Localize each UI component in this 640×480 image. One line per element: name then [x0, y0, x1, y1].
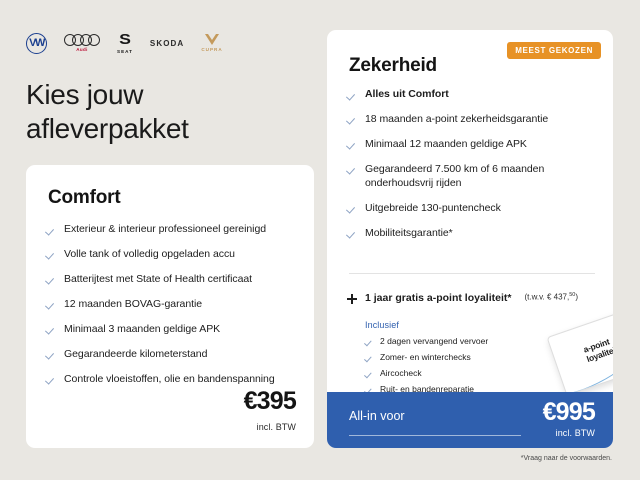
check-icon [365, 353, 373, 361]
list-item: Batterijtest met State of Health certifi… [46, 273, 300, 287]
cupra-logo-icon: CUPRA [201, 34, 222, 52]
zekerheid-feature-text: Uitgebreide 130-puntencheck [365, 202, 501, 216]
comfort-price-note: incl. BTW [257, 422, 296, 432]
loyalty-card-graphic: a-point loyaliteit [547, 306, 613, 396]
comfort-feature-text: Batterijtest met State of Health certifi… [64, 273, 252, 287]
list-item: Alles uit Comfort [347, 88, 603, 102]
page-title-line-2: afleverpakket [26, 113, 189, 144]
check-icon [46, 375, 56, 385]
check-icon [46, 275, 56, 285]
comfort-feature-text: Gegarandeerde kilometerstand [64, 348, 207, 362]
skoda-wordmark: SKODA [150, 39, 184, 48]
allin-price-bar: All-in voor €995 incl. BTW [327, 392, 613, 448]
list-item: Gegarandeerd 7.500 km of 6 maanden onder… [347, 163, 603, 191]
list-item: Zomer- en winterchecks [365, 352, 555, 363]
check-icon [46, 350, 56, 360]
check-icon [347, 165, 357, 175]
footnote: *Vraag naar de voorwaarden. [521, 455, 612, 462]
list-item: Controle vloeistoffen, olie en bandenspa… [46, 373, 300, 387]
vw-logo-icon: VW [26, 33, 47, 54]
audi-wordmark: Audi [76, 47, 88, 52]
zekerheid-feature-text: Mobiliteitsgarantie* [365, 227, 453, 241]
check-icon [46, 225, 56, 235]
seat-logo-icon: S SEAT [117, 32, 133, 54]
list-item: Aircocheck [365, 368, 555, 379]
seat-wordmark: SEAT [117, 49, 133, 54]
list-item: Volle tank of volledig opgeladen accu [46, 248, 300, 262]
audi-logo-icon: Audi [64, 34, 100, 52]
inclusief-item-text: Zomer- en winterchecks [380, 352, 471, 363]
zekerheid-feature-list: Alles uit Comfort 18 maanden a-point zek… [347, 88, 603, 252]
check-icon [347, 140, 357, 150]
list-item: Minimaal 3 maanden geldige APK [46, 323, 300, 337]
comfort-feature-text: Controle vloeistoffen, olie en bandenspa… [64, 373, 275, 387]
check-icon [46, 300, 56, 310]
inclusief-item-text: 2 dagen vervangend vervoer [380, 336, 488, 347]
vw-mark-label: VW [26, 33, 47, 54]
package-card-zekerheid[interactable]: MEEST GEKOZEN Zekerheid Alles uit Comfor… [327, 30, 613, 448]
zekerheid-feature-text: Gegarandeerd 7.500 km of 6 maanden onder… [365, 163, 603, 191]
inclusief-item-text: Aircocheck [380, 368, 422, 379]
brand-logo-bar: VW Audi S SEAT SKODA CUPRA [26, 30, 223, 56]
check-icon [347, 229, 357, 239]
check-icon [347, 90, 357, 100]
list-item: Mobiliteitsgarantie* [347, 227, 603, 241]
check-icon [46, 250, 56, 260]
inclusief-block: Inclusief 2 dagen vervangend vervoer Zom… [365, 320, 555, 400]
loyalty-bonus-value: (t.w.v. € 437,50) [524, 292, 578, 302]
inclusief-title: Inclusief [365, 320, 555, 330]
status-badge: MEEST GEKOZEN [507, 42, 601, 59]
zekerheid-feature-text: Minimaal 12 maanden geldige APK [365, 138, 527, 152]
check-icon [46, 325, 56, 335]
allin-label: All-in voor [349, 409, 405, 423]
zekerheid-card-title: Zekerheid [349, 55, 437, 77]
zekerheid-feature-text: 18 maanden a-point zekerheidsgarantie [365, 113, 548, 127]
comfort-feature-text: Volle tank of volledig opgeladen accu [64, 248, 235, 262]
list-item: 12 maanden BOVAG-garantie [46, 298, 300, 312]
list-item: Exterieur & interieur professioneel gere… [46, 223, 300, 237]
zekerheid-price-note: incl. BTW [556, 428, 595, 438]
seat-mark-label: S [119, 32, 131, 47]
comfort-feature-text: Exterieur & interieur professioneel gere… [64, 223, 266, 237]
section-divider [349, 273, 595, 274]
list-item: Uitgebreide 130-puntencheck [347, 202, 603, 216]
cupra-wordmark: CUPRA [201, 47, 222, 52]
loyalty-bonus-value-suffix: ) [575, 293, 578, 302]
zekerheid-feature-text: Alles uit Comfort [365, 88, 449, 102]
page-title: Kies jouw afleverpakket [26, 78, 189, 146]
audi-rings-icon [64, 34, 100, 46]
plus-icon [347, 294, 357, 304]
loyalty-bonus-row: 1 jaar gratis a-point loyaliteit* (t.w.v… [347, 292, 603, 306]
list-item: Gegarandeerde kilometerstand [46, 348, 300, 362]
comfort-feature-list: Exterieur & interieur professioneel gere… [46, 223, 300, 398]
page-title-line-1: Kies jouw [26, 79, 143, 110]
skoda-logo-icon: SKODA [150, 39, 184, 48]
comfort-feature-text: Minimaal 3 maanden geldige APK [64, 323, 220, 337]
check-icon [347, 115, 357, 125]
comfort-feature-text: 12 maanden BOVAG-garantie [64, 298, 202, 312]
check-icon [365, 337, 373, 345]
package-card-comfort[interactable]: Comfort Exterieur & interieur profession… [26, 165, 314, 448]
loyalty-bonus-value-prefix: (t.w.v. € 437, [524, 293, 569, 302]
list-item: 18 maanden a-point zekerheidsgarantie [347, 113, 603, 127]
price-bar-rule [349, 435, 521, 436]
zekerheid-price: €995 [543, 400, 595, 425]
check-icon [347, 204, 357, 214]
cupra-triangle-icon [205, 34, 219, 45]
comfort-price: €395 [244, 389, 296, 414]
list-item: 2 dagen vervangend vervoer [365, 336, 555, 347]
check-icon [365, 369, 373, 377]
page-root: VW Audi S SEAT SKODA CUPRA Kies jouw afl… [0, 0, 640, 480]
list-item: Minimaal 12 maanden geldige APK [347, 138, 603, 152]
comfort-card-title: Comfort [48, 187, 120, 209]
loyalty-bonus-text: 1 jaar gratis a-point loyaliteit* [365, 292, 511, 306]
